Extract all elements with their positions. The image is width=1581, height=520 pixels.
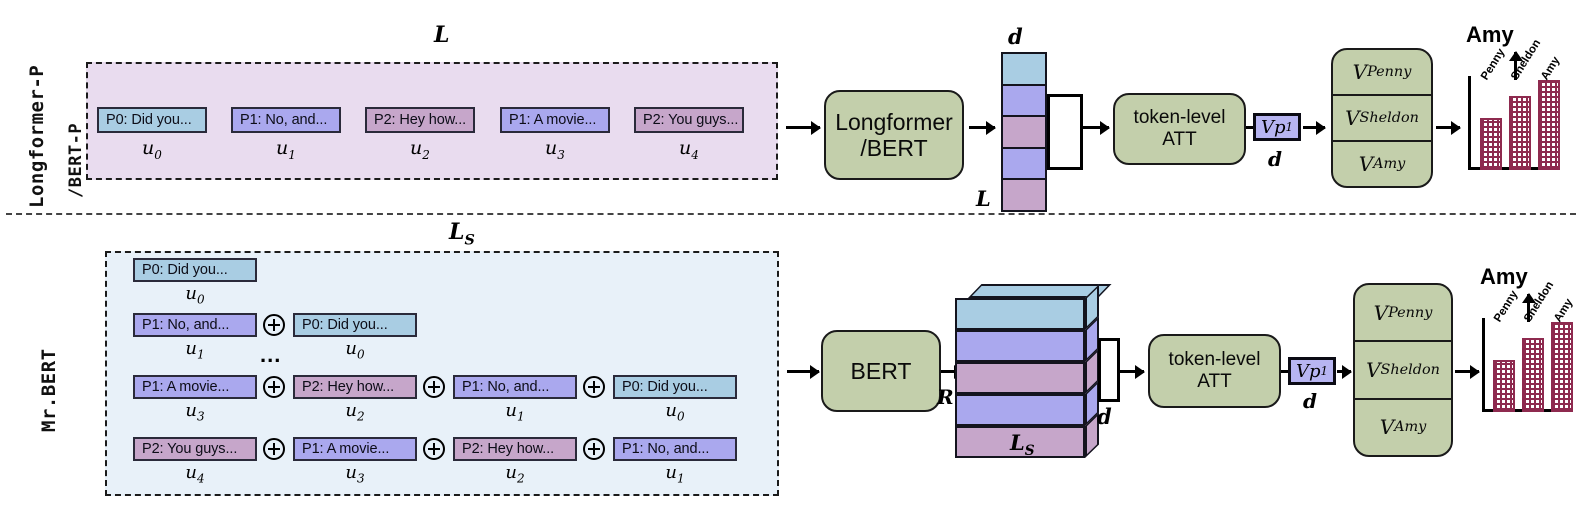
bottom-r1-u-label-0: u1 [133, 338, 257, 362]
bottom-r2-u-label-3: u0 [613, 400, 737, 424]
top-chart-highlight-arrow [1514, 52, 1517, 80]
top-arrow-vp-to-vectors [1303, 126, 1325, 129]
top-chart-tick-amy: Amy [1539, 55, 1562, 83]
top-arrow-stack-to-att [1083, 126, 1109, 129]
top-prediction-label: Amy [1466, 22, 1514, 48]
top-stack-label-L: L [976, 186, 991, 211]
bottom-r1-chip-1[interactable]: P0: Did you... [293, 313, 417, 337]
top-chart-bar-penny [1480, 118, 1502, 170]
top-prediction-chart: Penny Sheldon Amy [1468, 70, 1568, 170]
top-encoder-label-line2: /BERT [860, 135, 927, 161]
top-token-stack [1001, 52, 1047, 212]
top-token-seg-1 [1003, 84, 1045, 116]
bottom-token-slab-stack [955, 284, 1115, 444]
top-token-seg-0 [1003, 54, 1045, 84]
top-vector-penny: VPenny [1333, 50, 1431, 94]
bottom-att-module[interactable]: token-level ATT [1148, 334, 1281, 408]
bottom-r2-oplus-2 [583, 376, 605, 398]
top-utterance-chip-2[interactable]: P2: Hey how... [365, 107, 475, 133]
row-label-bert-p: /BERT-P [66, 123, 86, 198]
bottom-r3-oplus-0 [263, 438, 285, 460]
bottom-r3-u-label-0: u4 [133, 462, 257, 486]
section-divider [6, 213, 1576, 215]
top-u-label-0: u0 [97, 137, 207, 162]
top-speaker-vector-stack: VPenny VSheldon VAmy [1331, 48, 1433, 188]
bottom-vector-amy: VAmy [1355, 398, 1451, 455]
top-att-module[interactable]: token-level ATT [1113, 93, 1246, 165]
bottom-encoder-label: BERT [851, 358, 912, 384]
bottom-vp-sub: 1 [1321, 364, 1328, 378]
bottom-r1-u-label-1: u0 [293, 338, 417, 362]
bottom-stack-label-LS: LS [1010, 430, 1035, 459]
bottom-vector-sheldon: VSheldon [1355, 340, 1451, 397]
bottom-prediction-chart: Penny Sheldon Amy [1482, 312, 1578, 412]
top-token-seg-4 [1003, 178, 1045, 210]
bottom-stack-label-R: R [937, 385, 954, 409]
top-chart-bar-amy [1538, 80, 1560, 170]
bottom-stack-bracket [1098, 338, 1120, 402]
bottom-chart-tick-penny: Penny [1492, 289, 1520, 325]
top-utterance-chip-3[interactable]: P1: A movie... [500, 107, 610, 133]
bottom-r0-u-label-0: u0 [133, 283, 257, 307]
bottom-r1-oplus-0 [263, 314, 285, 336]
bottom-prediction-label: Amy [1480, 264, 1528, 290]
top-token-seg-2 [1003, 115, 1045, 147]
bottom-r2-chip-1[interactable]: P2: Hey how... [293, 375, 417, 399]
top-arrow-encoder-to-stack [969, 126, 995, 129]
bottom-chart-tick-amy: Amy [1552, 297, 1575, 325]
top-chart-y-axis [1468, 76, 1471, 170]
bottom-slab-front-2 [955, 362, 1085, 394]
bottom-slab-front-0 [955, 298, 1085, 330]
bottom-r2-chip-0[interactable]: P1: A movie... [133, 375, 257, 399]
top-att-label-line2: ATT [1162, 129, 1196, 151]
top-u-label-4: u4 [634, 137, 744, 162]
bottom-stack-label-d: d [1097, 404, 1112, 429]
bottom-r1-chip-0[interactable]: P1: No, and... [133, 313, 257, 337]
top-utterance-chip-4[interactable]: P2: You guys... [634, 107, 744, 133]
top-stack-label-d: d [1008, 24, 1023, 49]
top-utterance-chip-1[interactable]: P1: No, and... [231, 107, 341, 133]
bottom-r3-u-label-2: u2 [453, 462, 577, 486]
top-vp-box: Vp1 [1253, 113, 1301, 141]
bottom-arrow-stack-to-att [1120, 370, 1144, 373]
bottom-r2-chip-3[interactable]: P0: Did you... [613, 375, 737, 399]
bottom-slab-front-3 [955, 394, 1085, 426]
bottom-r2-u-label-1: u2 [293, 400, 417, 424]
top-vector-sheldon: VSheldon [1333, 94, 1431, 140]
top-u-label-1: u1 [231, 137, 341, 162]
bottom-chart-bar-amy [1551, 322, 1573, 412]
bottom-att-label-line1: token-level [1169, 349, 1261, 371]
bottom-vector-penny: VPenny [1355, 285, 1451, 340]
top-vp-dim-label: d [1268, 147, 1282, 171]
top-stack-bracket [1047, 94, 1083, 170]
bottom-r2-oplus-0 [263, 376, 285, 398]
bottom-r3-chip-0[interactable]: P2: You guys... [133, 437, 257, 461]
bottom-r2-chip-2[interactable]: P1: No, and... [453, 375, 577, 399]
top-arrow-vectors-to-chart [1436, 126, 1460, 129]
top-encoder-label-line1: Longformer [835, 109, 953, 135]
top-att-label-line1: token-level [1134, 107, 1226, 129]
bottom-chart-y-axis [1482, 318, 1485, 412]
bottom-r3-chip-1[interactable]: P1: A movie... [293, 437, 417, 461]
bottom-r2-u-label-0: u3 [133, 400, 257, 424]
bottom-ellipsis: ... [260, 342, 281, 368]
top-u-label-3: u3 [500, 137, 610, 162]
top-utterance-chip-0[interactable]: P0: Did you... [97, 107, 207, 133]
bottom-speaker-vector-stack: VPenny VSheldon VAmy [1353, 283, 1453, 457]
bottom-arrow-vp-to-vectors [1337, 370, 1351, 373]
bottom-chart-bar-penny [1493, 360, 1515, 412]
bottom-chart-bar-sheldon [1522, 338, 1544, 412]
bottom-r2-u-label-2: u1 [453, 400, 577, 424]
bottom-encoder-module[interactable]: BERT [821, 330, 941, 412]
bottom-vp-dim-label: d [1303, 389, 1317, 413]
bottom-slab-front-1 [955, 330, 1085, 362]
bottom-vp-box: Vp1 [1288, 357, 1336, 385]
bottom-chart-highlight-arrow [1527, 294, 1530, 322]
bottom-r3-oplus-1 [423, 438, 445, 460]
bottom-r3-u-label-1: u3 [293, 462, 417, 486]
top-token-seg-3 [1003, 147, 1045, 179]
row-label-longformer-p: Longformer-P [26, 65, 48, 208]
bottom-r3-u-label-3: u1 [613, 462, 737, 486]
top-chart-bar-sheldon [1509, 96, 1531, 170]
top-span-label-L: L [434, 22, 449, 48]
bottom-span-label-LS: LS [449, 219, 475, 248]
top-vp-label: Vp [1261, 117, 1286, 138]
figure-canvas: Longformer-P /BERT-P L P0: Did you... P1… [0, 0, 1581, 520]
bottom-r3-oplus-2 [583, 438, 605, 460]
bottom-r2-oplus-1 [423, 376, 445, 398]
top-vp-sub: 1 [1286, 120, 1293, 134]
bottom-r0-chip-0[interactable]: P0: Did you... [133, 258, 257, 282]
bottom-vp-label: Vp [1296, 361, 1321, 382]
bottom-r3-chip-2[interactable]: P2: Hey how... [453, 437, 577, 461]
bottom-r3-chip-3[interactable]: P1: No, and... [613, 437, 737, 461]
bottom-arrow-vectors-to-chart [1455, 370, 1479, 373]
row-label-mr-bert: Mr.BERT [38, 348, 60, 432]
bottom-att-label-line2: ATT [1197, 371, 1231, 393]
top-u-label-2: u2 [365, 137, 475, 162]
bottom-arrow-panel-to-encoder [787, 370, 819, 373]
top-arrow-panel-to-encoder [786, 126, 820, 129]
top-chart-tick-penny: Penny [1479, 47, 1507, 83]
top-encoder-module[interactable]: Longformer /BERT [824, 90, 964, 180]
top-vector-amy: VAmy [1333, 140, 1431, 186]
